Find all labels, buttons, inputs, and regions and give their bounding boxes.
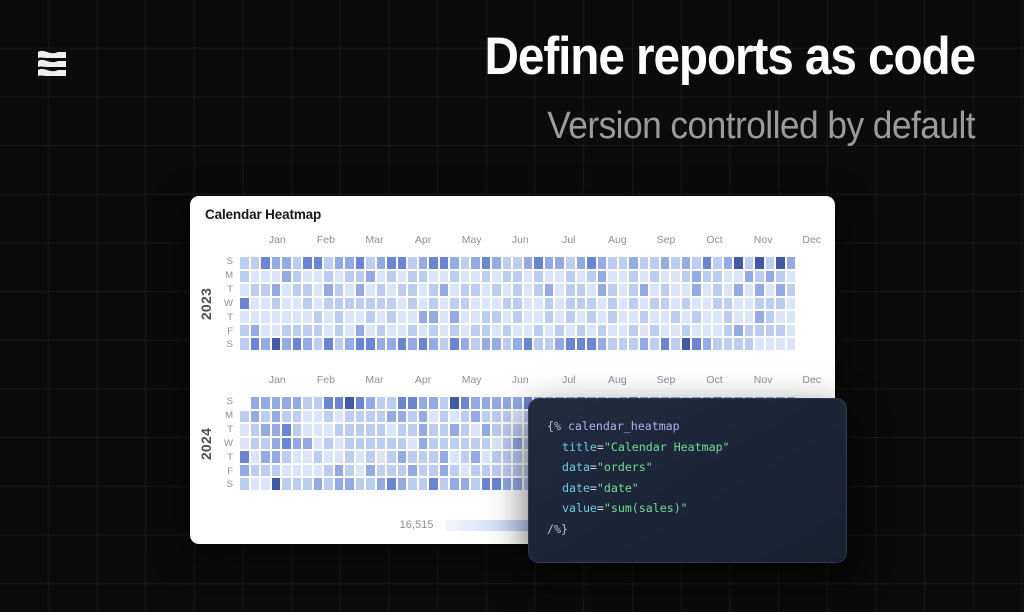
heatmap-cell[interactable] <box>702 283 713 297</box>
heatmap-cell[interactable] <box>334 324 345 338</box>
heatmap-cell[interactable] <box>323 297 334 311</box>
heatmap-cell[interactable] <box>407 283 418 297</box>
heatmap-cell[interactable] <box>365 310 376 324</box>
heatmap-cell[interactable] <box>502 297 513 311</box>
heatmap-cell[interactable] <box>681 270 692 284</box>
heatmap-cell[interactable] <box>386 396 397 410</box>
heatmap-cell[interactable] <box>407 256 418 270</box>
heatmap-cell[interactable] <box>271 337 282 351</box>
heatmap-cell[interactable] <box>365 396 376 410</box>
heatmap-cell[interactable] <box>628 297 639 311</box>
heatmap-cell[interactable] <box>239 423 250 437</box>
heatmap-cell[interactable] <box>775 337 786 351</box>
heatmap-cell[interactable] <box>597 283 608 297</box>
heatmap-cell[interactable] <box>239 464 250 478</box>
heatmap-cell[interactable] <box>271 450 282 464</box>
heatmap-cell[interactable] <box>470 410 481 424</box>
heatmap-cell[interactable] <box>365 464 376 478</box>
heatmap-cell[interactable] <box>702 310 713 324</box>
heatmap-cell[interactable] <box>260 324 271 338</box>
heatmap-cell[interactable] <box>439 423 450 437</box>
heatmap-cell[interactable] <box>775 283 786 297</box>
heatmap-cell[interactable] <box>512 464 523 478</box>
heatmap-cell[interactable] <box>302 310 313 324</box>
heatmap-cell[interactable] <box>239 310 250 324</box>
heatmap-cell[interactable] <box>292 270 303 284</box>
heatmap-cell[interactable] <box>397 437 408 451</box>
heatmap-cell[interactable] <box>428 464 439 478</box>
heatmap-cell[interactable] <box>691 310 702 324</box>
heatmap-cell[interactable] <box>754 297 765 311</box>
heatmap-cell[interactable] <box>292 437 303 451</box>
heatmap-cell[interactable] <box>533 270 544 284</box>
heatmap-cell[interactable] <box>386 437 397 451</box>
heatmap-cell[interactable] <box>460 450 471 464</box>
heatmap-cell[interactable] <box>376 283 387 297</box>
heatmap-cell[interactable] <box>397 450 408 464</box>
heatmap-cell[interactable] <box>439 256 450 270</box>
heatmap-cell[interactable] <box>302 297 313 311</box>
heatmap-cell[interactable] <box>418 410 429 424</box>
heatmap-cell[interactable] <box>639 256 650 270</box>
heatmap-cell[interactable] <box>502 256 513 270</box>
heatmap-cell[interactable] <box>639 337 650 351</box>
heatmap-cell[interactable] <box>786 324 797 338</box>
heatmap-cell[interactable] <box>355 324 366 338</box>
heatmap-cell[interactable] <box>271 396 282 410</box>
heatmap-cell[interactable] <box>754 256 765 270</box>
heatmap-cell[interactable] <box>260 256 271 270</box>
heatmap-cell[interactable] <box>702 337 713 351</box>
heatmap-cell[interactable] <box>691 270 702 284</box>
heatmap-cell[interactable] <box>565 337 576 351</box>
heatmap-cell[interactable] <box>376 423 387 437</box>
heatmap-cell[interactable] <box>376 477 387 491</box>
heatmap-cell[interactable] <box>344 450 355 464</box>
heatmap-cell[interactable] <box>491 450 502 464</box>
heatmap-cell[interactable] <box>376 270 387 284</box>
heatmap-cell[interactable] <box>271 477 282 491</box>
heatmap-cell[interactable] <box>597 270 608 284</box>
heatmap-cell[interactable] <box>523 256 534 270</box>
heatmap-cell[interactable] <box>449 270 460 284</box>
heatmap-cell[interactable] <box>302 450 313 464</box>
heatmap-cell[interactable] <box>418 464 429 478</box>
heatmap-cell[interactable] <box>428 450 439 464</box>
heatmap-cell[interactable] <box>576 337 587 351</box>
heatmap-cell[interactable] <box>292 450 303 464</box>
heatmap-cell[interactable] <box>744 270 755 284</box>
heatmap-cell[interactable] <box>281 464 292 478</box>
heatmap-cell[interactable] <box>250 256 261 270</box>
heatmap-cell[interactable] <box>691 256 702 270</box>
heatmap-cell[interactable] <box>344 297 355 311</box>
heatmap-cell[interactable] <box>712 283 723 297</box>
heatmap-cell[interactable] <box>407 270 418 284</box>
heatmap-cell[interactable] <box>712 337 723 351</box>
heatmap-cell[interactable] <box>376 256 387 270</box>
heatmap-cell[interactable] <box>712 297 723 311</box>
heatmap-cell[interactable] <box>428 324 439 338</box>
heatmap-cell[interactable] <box>470 270 481 284</box>
heatmap-cell[interactable] <box>355 297 366 311</box>
heatmap-cell[interactable] <box>397 256 408 270</box>
heatmap-cell[interactable] <box>281 410 292 424</box>
heatmap-cell[interactable] <box>702 324 713 338</box>
heatmap-cell[interactable] <box>365 337 376 351</box>
heatmap-cell[interactable] <box>292 410 303 424</box>
heatmap-cell[interactable] <box>754 337 765 351</box>
heatmap-cell[interactable] <box>439 396 450 410</box>
heatmap-cell[interactable] <box>470 297 481 311</box>
heatmap-cell[interactable] <box>460 270 471 284</box>
heatmap-cell[interactable] <box>470 324 481 338</box>
heatmap-cell[interactable] <box>639 324 650 338</box>
heatmap-cell[interactable] <box>775 324 786 338</box>
heatmap-cell[interactable] <box>576 283 587 297</box>
heatmap-cell[interactable] <box>302 337 313 351</box>
heatmap-cell[interactable] <box>660 256 671 270</box>
heatmap-cell[interactable] <box>428 297 439 311</box>
heatmap-cell[interactable] <box>502 283 513 297</box>
heatmap-cell[interactable] <box>481 337 492 351</box>
heatmap-cell[interactable] <box>491 270 502 284</box>
heatmap-cell[interactable] <box>292 464 303 478</box>
heatmap-cell[interactable] <box>239 437 250 451</box>
heatmap-cell[interactable] <box>407 337 418 351</box>
heatmap-cell[interactable] <box>670 324 681 338</box>
heatmap-cell[interactable] <box>786 310 797 324</box>
heatmap-cell[interactable] <box>344 410 355 424</box>
heatmap-cell[interactable] <box>386 464 397 478</box>
heatmap-cell[interactable] <box>481 256 492 270</box>
heatmap-cell[interactable] <box>376 437 387 451</box>
heatmap-cell[interactable] <box>334 310 345 324</box>
heatmap-cell[interactable] <box>786 337 797 351</box>
heatmap-cell[interactable] <box>481 297 492 311</box>
heatmap-cell[interactable] <box>681 297 692 311</box>
heatmap-cell[interactable] <box>239 256 250 270</box>
heatmap-cell[interactable] <box>691 337 702 351</box>
heatmap-cell[interactable] <box>639 283 650 297</box>
heatmap-cell[interactable] <box>323 270 334 284</box>
heatmap-cell[interactable] <box>344 423 355 437</box>
heatmap-cell[interactable] <box>681 337 692 351</box>
heatmap-cell[interactable] <box>754 270 765 284</box>
heatmap-cell[interactable] <box>491 256 502 270</box>
heatmap-cell[interactable] <box>250 337 261 351</box>
heatmap-cell[interactable] <box>376 464 387 478</box>
heatmap-cell[interactable] <box>428 437 439 451</box>
heatmap-cell[interactable] <box>334 450 345 464</box>
heatmap-cell[interactable] <box>618 324 629 338</box>
heatmap-cell[interactable] <box>250 437 261 451</box>
heatmap-cell[interactable] <box>744 256 755 270</box>
heatmap-cell[interactable] <box>733 256 744 270</box>
heatmap-cell[interactable] <box>576 270 587 284</box>
heatmap-cell[interactable] <box>313 324 324 338</box>
heatmap-cell[interactable] <box>597 310 608 324</box>
heatmap-cell[interactable] <box>639 310 650 324</box>
heatmap-cell[interactable] <box>292 297 303 311</box>
heatmap-cell[interactable] <box>260 437 271 451</box>
heatmap-cell[interactable] <box>449 310 460 324</box>
heatmap-cell[interactable] <box>386 310 397 324</box>
heatmap-cell[interactable] <box>512 410 523 424</box>
heatmap-cell[interactable] <box>491 410 502 424</box>
heatmap-cell[interactable] <box>407 437 418 451</box>
heatmap-cell[interactable] <box>397 464 408 478</box>
heatmap-cell[interactable] <box>460 477 471 491</box>
heatmap-cell[interactable] <box>386 423 397 437</box>
heatmap-cell[interactable] <box>397 270 408 284</box>
heatmap-cell[interactable] <box>407 324 418 338</box>
heatmap-cell[interactable] <box>723 310 734 324</box>
heatmap-cell[interactable] <box>523 310 534 324</box>
heatmap-cell[interactable] <box>502 396 513 410</box>
heatmap-cell[interactable] <box>618 270 629 284</box>
heatmap-cell[interactable] <box>576 310 587 324</box>
heatmap-cell[interactable] <box>313 396 324 410</box>
heatmap-cell[interactable] <box>449 450 460 464</box>
heatmap-cell[interactable] <box>397 283 408 297</box>
heatmap-cell[interactable] <box>323 324 334 338</box>
heatmap-cell[interactable] <box>775 256 786 270</box>
heatmap-cell[interactable] <box>449 283 460 297</box>
heatmap-cell[interactable] <box>502 450 513 464</box>
heatmap-cell[interactable] <box>365 423 376 437</box>
heatmap-cell[interactable] <box>365 283 376 297</box>
heatmap-cell[interactable] <box>239 270 250 284</box>
heatmap-cell[interactable] <box>628 283 639 297</box>
heatmap-cell[interactable] <box>554 324 565 338</box>
heatmap-cell[interactable] <box>460 310 471 324</box>
heatmap-cell[interactable] <box>355 477 366 491</box>
heatmap-cell[interactable] <box>386 410 397 424</box>
heatmap-cell[interactable] <box>481 437 492 451</box>
heatmap-cell[interactable] <box>723 324 734 338</box>
heatmap-cell[interactable] <box>239 324 250 338</box>
heatmap-cell[interactable] <box>386 324 397 338</box>
heatmap-cell[interactable] <box>313 410 324 424</box>
heatmap-cell[interactable] <box>239 410 250 424</box>
heatmap-cell[interactable] <box>334 437 345 451</box>
heatmap-cell[interactable] <box>281 337 292 351</box>
heatmap-cell[interactable] <box>407 297 418 311</box>
heatmap-cell[interactable] <box>597 256 608 270</box>
heatmap-cell[interactable] <box>544 324 555 338</box>
heatmap-cell[interactable] <box>449 297 460 311</box>
heatmap-cell[interactable] <box>670 337 681 351</box>
heatmap-cell[interactable] <box>512 324 523 338</box>
heatmap-cell[interactable] <box>250 324 261 338</box>
heatmap-cell[interactable] <box>765 270 776 284</box>
heatmap-cell[interactable] <box>313 423 324 437</box>
heatmap-cell[interactable] <box>554 310 565 324</box>
heatmap-cell[interactable] <box>639 297 650 311</box>
heatmap-cell[interactable] <box>502 310 513 324</box>
heatmap-cell[interactable] <box>491 464 502 478</box>
heatmap-cell[interactable] <box>470 437 481 451</box>
heatmap-cell[interactable] <box>271 310 282 324</box>
heatmap-cell[interactable] <box>460 256 471 270</box>
heatmap-cell[interactable] <box>376 410 387 424</box>
heatmap-cell[interactable] <box>376 310 387 324</box>
heatmap-cell[interactable] <box>271 297 282 311</box>
heatmap-grid-2023[interactable] <box>239 256 822 351</box>
heatmap-cell[interactable] <box>512 477 523 491</box>
heatmap-cell[interactable] <box>586 256 597 270</box>
heatmap-cell[interactable] <box>502 270 513 284</box>
heatmap-cell[interactable] <box>470 310 481 324</box>
heatmap-cell[interactable] <box>397 297 408 311</box>
heatmap-cell[interactable] <box>660 337 671 351</box>
heatmap-cell[interactable] <box>334 297 345 311</box>
heatmap-cell[interactable] <box>418 477 429 491</box>
heatmap-cell[interactable] <box>334 396 345 410</box>
heatmap-cell[interactable] <box>250 283 261 297</box>
heatmap-cell[interactable] <box>397 324 408 338</box>
heatmap-cell[interactable] <box>481 410 492 424</box>
heatmap-cell[interactable] <box>712 310 723 324</box>
heatmap-cell[interactable] <box>544 310 555 324</box>
heatmap-cell[interactable] <box>744 310 755 324</box>
heatmap-cell[interactable] <box>765 337 776 351</box>
heatmap-cell[interactable] <box>523 283 534 297</box>
heatmap-cell[interactable] <box>355 337 366 351</box>
heatmap-cell[interactable] <box>250 270 261 284</box>
heatmap-cell[interactable] <box>607 337 618 351</box>
heatmap-cell[interactable] <box>481 310 492 324</box>
heatmap-cell[interactable] <box>618 256 629 270</box>
heatmap-cell[interactable] <box>397 423 408 437</box>
heatmap-cell[interactable] <box>334 283 345 297</box>
heatmap-cell[interactable] <box>649 310 660 324</box>
heatmap-cell[interactable] <box>481 464 492 478</box>
heatmap-cell[interactable] <box>323 410 334 424</box>
heatmap-cell[interactable] <box>470 450 481 464</box>
heatmap-cell[interactable] <box>428 310 439 324</box>
heatmap-cell[interactable] <box>544 270 555 284</box>
heatmap-cell[interactable] <box>281 423 292 437</box>
heatmap-cell[interactable] <box>355 270 366 284</box>
heatmap-cell[interactable] <box>376 337 387 351</box>
heatmap-cell[interactable] <box>355 310 366 324</box>
heatmap-cell[interactable] <box>260 310 271 324</box>
heatmap-cell[interactable] <box>439 477 450 491</box>
heatmap-cell[interactable] <box>313 297 324 311</box>
heatmap-cell[interactable] <box>386 256 397 270</box>
heatmap-cell[interactable] <box>512 437 523 451</box>
heatmap-cell[interactable] <box>355 396 366 410</box>
heatmap-cell[interactable] <box>271 256 282 270</box>
heatmap-cell[interactable] <box>407 410 418 424</box>
heatmap-cell[interactable] <box>512 256 523 270</box>
heatmap-cell[interactable] <box>491 423 502 437</box>
heatmap-cell[interactable] <box>512 396 523 410</box>
heatmap-cell[interactable] <box>544 337 555 351</box>
heatmap-cell[interactable] <box>449 437 460 451</box>
heatmap-cell[interactable] <box>533 337 544 351</box>
heatmap-cell[interactable] <box>355 450 366 464</box>
heatmap-cell[interactable] <box>439 437 450 451</box>
heatmap-cell[interactable] <box>586 270 597 284</box>
heatmap-cell[interactable] <box>775 270 786 284</box>
heatmap-cell[interactable] <box>523 270 534 284</box>
heatmap-cell[interactable] <box>302 283 313 297</box>
heatmap-cell[interactable] <box>355 410 366 424</box>
heatmap-cell[interactable] <box>649 256 660 270</box>
heatmap-cell[interactable] <box>386 283 397 297</box>
heatmap-cell[interactable] <box>597 337 608 351</box>
heatmap-cell[interactable] <box>302 324 313 338</box>
heatmap-cell[interactable] <box>733 310 744 324</box>
heatmap-cell[interactable] <box>418 310 429 324</box>
heatmap-cell[interactable] <box>607 324 618 338</box>
heatmap-cell[interactable] <box>260 396 271 410</box>
heatmap-cell[interactable] <box>334 256 345 270</box>
heatmap-cell[interactable] <box>723 256 734 270</box>
heatmap-cell[interactable] <box>281 270 292 284</box>
heatmap-cell[interactable] <box>670 310 681 324</box>
heatmap-cell[interactable] <box>765 310 776 324</box>
heatmap-cell[interactable] <box>512 270 523 284</box>
heatmap-cell[interactable] <box>628 337 639 351</box>
heatmap-cell[interactable] <box>523 297 534 311</box>
heatmap-cell[interactable] <box>302 437 313 451</box>
heatmap-cell[interactable] <box>418 396 429 410</box>
heatmap-cell[interactable] <box>491 324 502 338</box>
heatmap-cell[interactable] <box>618 310 629 324</box>
heatmap-cell[interactable] <box>607 310 618 324</box>
heatmap-cell[interactable] <box>554 270 565 284</box>
heatmap-cell[interactable] <box>470 396 481 410</box>
heatmap-cell[interactable] <box>723 270 734 284</box>
heatmap-cell[interactable] <box>250 396 261 410</box>
heatmap-cell[interactable] <box>418 423 429 437</box>
heatmap-cell[interactable] <box>239 283 250 297</box>
heatmap-cell[interactable] <box>344 270 355 284</box>
heatmap-cell[interactable] <box>618 337 629 351</box>
heatmap-cell[interactable] <box>607 256 618 270</box>
heatmap-cell[interactable] <box>428 477 439 491</box>
heatmap-cell[interactable] <box>281 396 292 410</box>
heatmap-cell[interactable] <box>712 324 723 338</box>
heatmap-cell[interactable] <box>313 437 324 451</box>
heatmap-cell[interactable] <box>397 310 408 324</box>
heatmap-cell[interactable] <box>460 283 471 297</box>
heatmap-cell[interactable] <box>565 310 576 324</box>
heatmap-cell[interactable] <box>418 270 429 284</box>
heatmap-cell[interactable] <box>271 423 282 437</box>
heatmap-cell[interactable] <box>355 256 366 270</box>
heatmap-cell[interactable] <box>702 256 713 270</box>
heatmap-cell[interactable] <box>407 464 418 478</box>
heatmap-cell[interactable] <box>281 283 292 297</box>
heatmap-cell[interactable] <box>712 270 723 284</box>
heatmap-cell[interactable] <box>260 450 271 464</box>
heatmap-cell[interactable] <box>365 477 376 491</box>
heatmap-cell[interactable] <box>365 450 376 464</box>
heatmap-cell[interactable] <box>470 477 481 491</box>
heatmap-cell[interactable] <box>250 310 261 324</box>
heatmap-cell[interactable] <box>250 477 261 491</box>
heatmap-cell[interactable] <box>250 450 261 464</box>
heatmap-cell[interactable] <box>775 297 786 311</box>
heatmap-cell[interactable] <box>292 477 303 491</box>
heatmap-cell[interactable] <box>470 423 481 437</box>
heatmap-cell[interactable] <box>533 324 544 338</box>
